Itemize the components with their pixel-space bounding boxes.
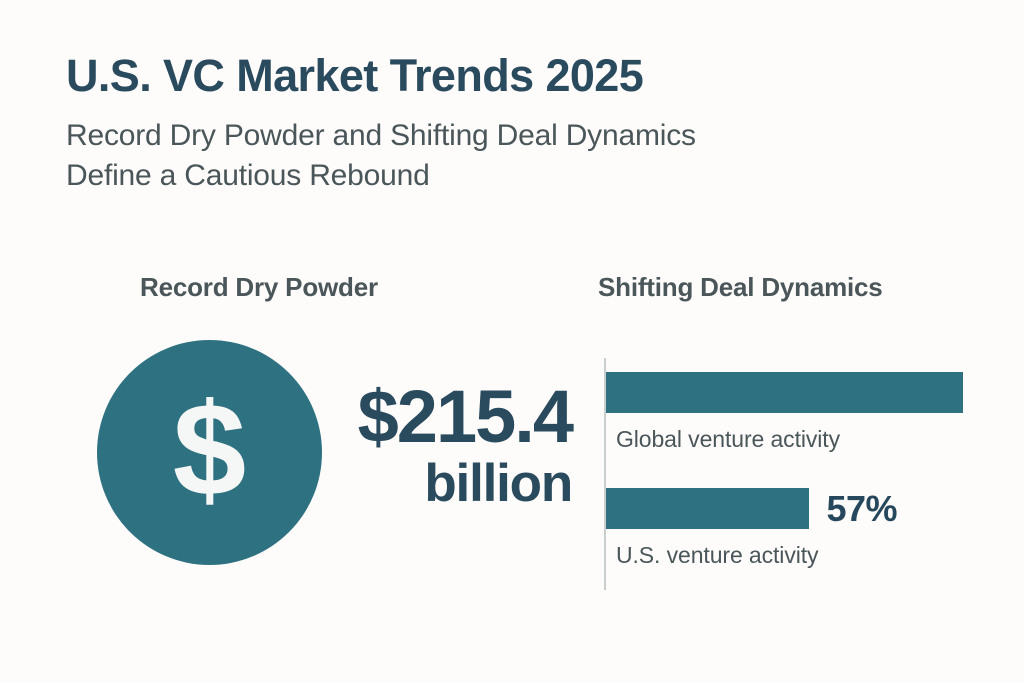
bar-label-us: U.S. venture activity	[606, 529, 818, 569]
page-subtitle: Record Dry Powder and Shifting Deal Dyna…	[66, 99, 966, 195]
dry-powder-circle: $	[97, 340, 322, 565]
bar-label-global: Global venture activity	[606, 413, 963, 453]
left-panel-heading: Record Dry Powder	[140, 272, 378, 303]
right-panel-heading: Shifting Deal Dynamics	[598, 272, 883, 303]
header: U.S. VC Market Trends 2025 Record Dry Po…	[66, 52, 966, 195]
bar-us-venture-activity: 57%	[606, 488, 809, 529]
bar-global-venture-activity	[606, 372, 963, 413]
bar-value-us: 57%	[826, 488, 897, 530]
bar-group-us: 57% U.S. venture activity	[606, 488, 818, 569]
figure-value: $215.4	[330, 382, 572, 452]
subtitle-line-1: Record Dry Powder and Shifting Deal Dyna…	[66, 116, 966, 156]
bar-group-global: Global venture activity	[606, 372, 963, 453]
dry-powder-figure: $215.4 billion	[330, 382, 572, 512]
figure-unit: billion	[330, 452, 572, 512]
deal-dynamics-bar-chart: Global venture activity 57% U.S. venture…	[604, 358, 1004, 590]
subtitle-line-2: Define a Cautious Rebound	[66, 156, 966, 196]
dollar-sign-icon: $	[97, 340, 322, 565]
infographic-canvas: U.S. VC Market Trends 2025 Record Dry Po…	[0, 0, 1024, 683]
page-title: U.S. VC Market Trends 2025	[66, 52, 966, 99]
